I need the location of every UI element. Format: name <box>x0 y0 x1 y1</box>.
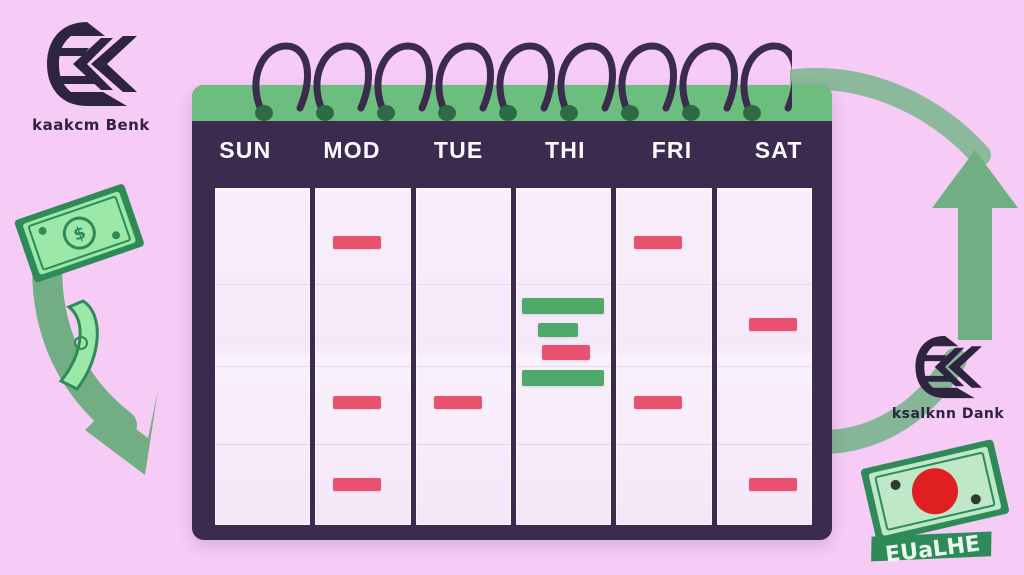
day-column-mod[interactable] <box>315 188 410 525</box>
row-divider <box>315 444 410 445</box>
row-divider <box>315 366 410 367</box>
row-divider <box>616 444 711 445</box>
day-column-fri[interactable] <box>616 188 711 525</box>
day-header-fri: FRI <box>619 137 726 164</box>
banknote-icon: EUaLHE <box>855 435 1020 575</box>
event-bar-red[interactable] <box>634 396 682 409</box>
day-column-thi[interactable] <box>516 188 611 525</box>
calendar-day-header-row: SUNMODTUETHIFRISAT <box>192 121 832 180</box>
spiral-hole <box>377 105 395 121</box>
day-column-tue[interactable] <box>416 188 511 525</box>
row-divider <box>717 366 812 367</box>
row-divider <box>416 284 511 285</box>
row-divider <box>516 284 611 285</box>
day-column-sun[interactable] <box>215 188 310 525</box>
row-divider <box>315 284 410 285</box>
row-divider <box>717 284 812 285</box>
svg-text:$: $ <box>71 223 89 246</box>
spiral-ring <box>683 46 735 112</box>
spiral-ring <box>378 46 430 112</box>
row-divider <box>215 444 310 445</box>
spiral-ring <box>439 46 491 112</box>
calendar-grid[interactable] <box>215 188 812 525</box>
row-divider <box>616 366 711 367</box>
event-bar-red[interactable] <box>542 345 590 360</box>
bank-logo-bottom-right: ksalknn Dank <box>868 330 1024 422</box>
calendar-widget[interactable]: SUNMODTUETHIFRISAT <box>192 85 832 540</box>
day-column-sat[interactable] <box>717 188 812 525</box>
event-bar-green[interactable] <box>522 298 604 314</box>
bank-logo-top-left: kaakcm Benk <box>6 14 176 134</box>
day-header-sat: SAT <box>725 137 832 164</box>
event-bar-red[interactable] <box>333 396 381 409</box>
event-bar-red[interactable] <box>634 236 682 249</box>
event-bar-red[interactable] <box>749 318 797 331</box>
spiral-hole <box>499 105 517 121</box>
event-bar-green[interactable] <box>522 370 604 386</box>
day-header-thi: THI <box>512 137 619 164</box>
bank-chevron-icon <box>893 330 1003 404</box>
bank-chevron-icon <box>31 14 151 114</box>
event-bar-red[interactable] <box>333 478 381 491</box>
spiral-hole <box>560 105 578 121</box>
spiral-ring <box>500 46 552 112</box>
row-divider <box>717 444 812 445</box>
row-divider <box>516 444 611 445</box>
day-header-mod: MOD <box>299 137 406 164</box>
row-divider <box>416 444 511 445</box>
spiral-hole <box>316 105 334 121</box>
spiral-ring <box>317 46 369 112</box>
row-divider <box>215 366 310 367</box>
day-header-sun: SUN <box>192 137 299 164</box>
day-header-tue: TUE <box>405 137 512 164</box>
svg-text:EUaLHE: EUaLHE <box>884 532 982 568</box>
spiral-hole <box>743 105 761 121</box>
event-bar-red[interactable] <box>749 478 797 491</box>
spiral-hole <box>621 105 639 121</box>
spiral-hole <box>438 105 456 121</box>
spiral-ring <box>561 46 613 112</box>
bank-logo-top-left-wordmark: kaakcm Benk <box>6 116 176 134</box>
row-divider <box>516 366 611 367</box>
bank-logo-bottom-right-wordmark: ksalknn Dank <box>868 406 1024 422</box>
up-arrow-icon <box>930 150 1020 340</box>
poster-canvas: $ EUaLHE kaakcm Benk <box>0 0 1024 575</box>
spiral-binding-icon <box>240 32 792 122</box>
spiral-ring <box>256 46 308 112</box>
row-divider <box>416 366 511 367</box>
spiral-hole <box>682 105 700 121</box>
event-bar-red[interactable] <box>333 236 381 249</box>
spiral-ring <box>622 46 674 112</box>
event-bar-red[interactable] <box>434 396 482 409</box>
banknote-icon: $ <box>10 175 150 295</box>
event-bar-green[interactable] <box>538 323 578 337</box>
row-divider <box>215 284 310 285</box>
spiral-ring <box>744 46 792 112</box>
row-divider <box>616 284 711 285</box>
spiral-hole <box>255 105 273 121</box>
banknote-icon <box>55 295 125 395</box>
